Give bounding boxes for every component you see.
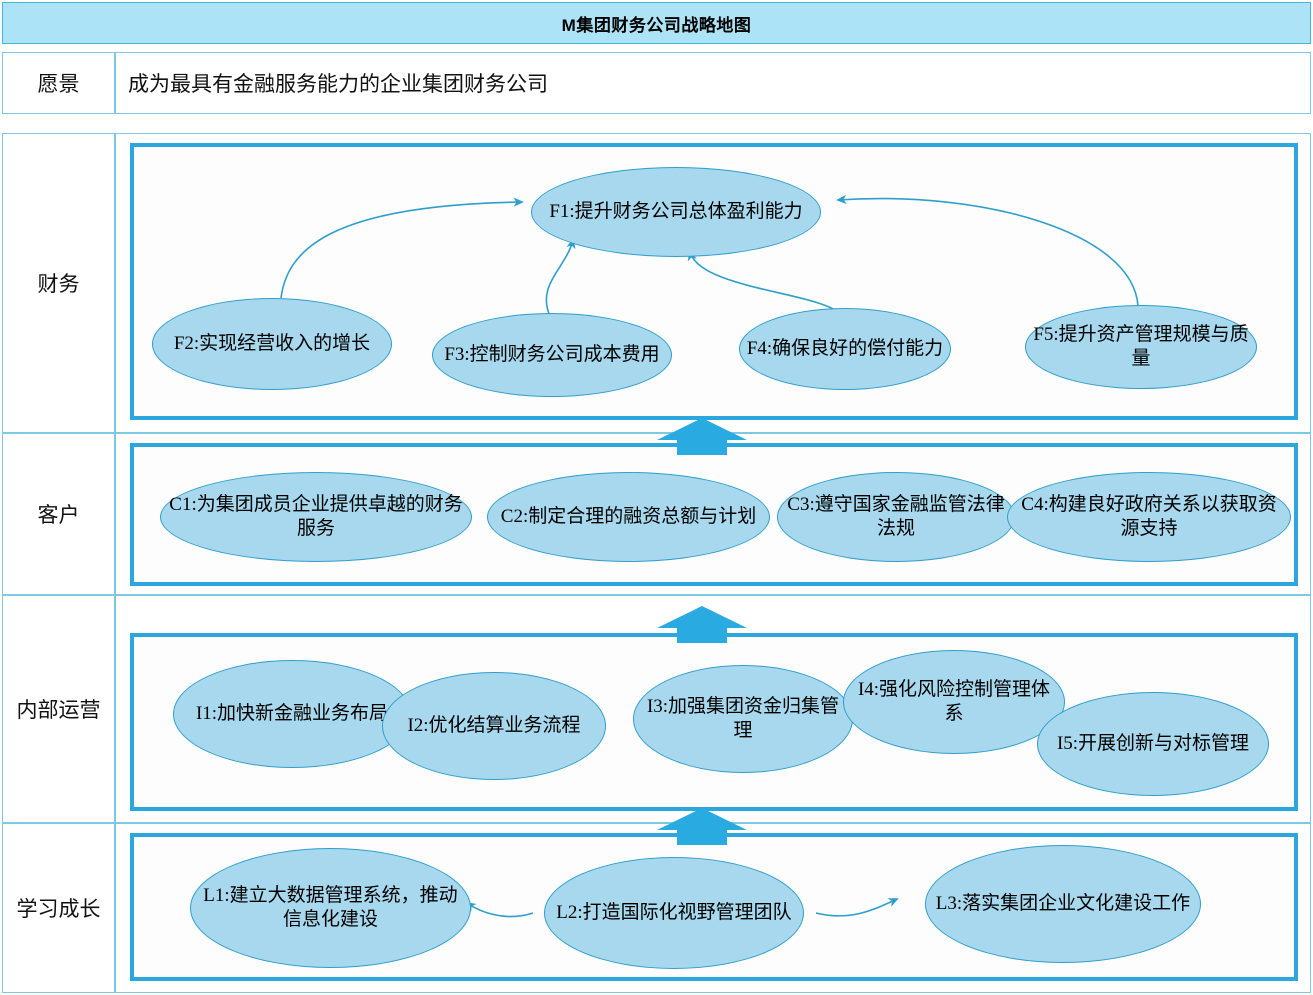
node-F2[interactable]: F2:实现经营收入的增长 — [152, 298, 392, 390]
perspective-label-customer: 客户 — [2, 433, 115, 595]
node-C1[interactable]: C1:为集团成员企业提供卓越的财务服务 — [160, 472, 472, 562]
node-L3[interactable]: L3:落实集团企业文化建设工作 — [925, 845, 1201, 963]
vision-label: 愿景 — [2, 52, 115, 114]
node-I1[interactable]: I1:加快新金融业务布局 — [173, 660, 411, 768]
node-I3[interactable]: I3:加强集团资金归集管理 — [633, 665, 853, 773]
node-F5[interactable]: F5:提升资产管理规模与质量 — [1025, 305, 1257, 389]
node-L1[interactable]: L1:建立大数据管理系统，推动信息化建设 — [190, 848, 471, 968]
node-I2[interactable]: I2:优化结算业务流程 — [382, 672, 606, 780]
node-F4[interactable]: F4:确保良好的偿付能力 — [739, 308, 951, 390]
node-C2[interactable]: C2:制定合理的融资总额与计划 — [487, 472, 770, 562]
vision-statement: 成为最具有金融服务能力的企业集团财务公司 — [115, 52, 1311, 114]
node-L2[interactable]: L2:打造国际化视野管理团队 — [544, 857, 804, 969]
node-C3[interactable]: C3:遵守国家金融监管法律法规 — [777, 472, 1015, 562]
perspective-label-financial: 财务 — [2, 133, 115, 433]
node-F3[interactable]: F3:控制财务公司成本费用 — [432, 313, 672, 397]
perspective-label-internal: 内部运营 — [2, 595, 115, 823]
node-I5[interactable]: I5:开展创新与对标管理 — [1037, 692, 1269, 796]
node-I4[interactable]: I4:强化风险控制管理体系 — [843, 650, 1065, 754]
page-title: M集团财务公司战略地图 — [562, 11, 752, 36]
page-title-bar: M集团财务公司战略地图 — [2, 2, 1311, 44]
node-F1[interactable]: F1:提升财务公司总体盈利能力 — [531, 167, 821, 257]
node-C4[interactable]: C4:构建良好政府关系以获取资源支持 — [1007, 472, 1291, 562]
perspective-label-learning: 学习成长 — [2, 823, 115, 993]
strategy-map: M集团财务公司战略地图 愿景 成为最具有金融服务能力的企业集团财务公司 财务 客… — [0, 0, 1313, 995]
